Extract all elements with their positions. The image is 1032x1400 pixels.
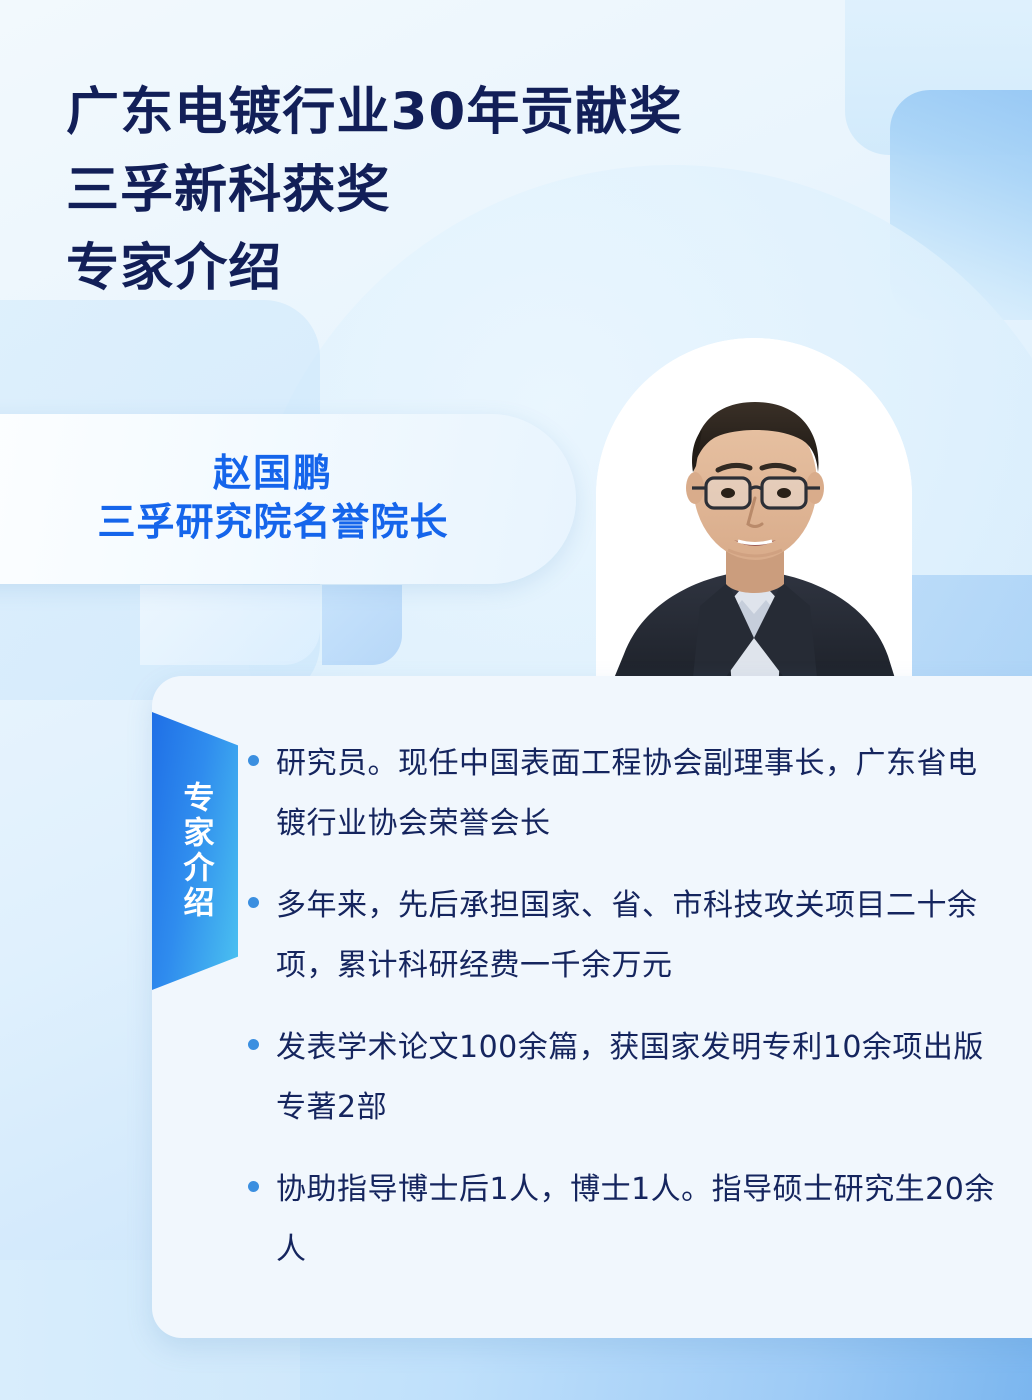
list-item-text: 发表学术论文100余篇，获国家发明专利10余项出版专著2部 bbox=[276, 1018, 996, 1138]
list-item-text: 研究员。现任中国表面工程协会副理事长，广东省电镀行业协会荣誉会长 bbox=[276, 734, 996, 854]
title-line-2: 三孚新科获奖 bbox=[66, 152, 940, 230]
expert-name: 赵国鹏 bbox=[213, 450, 333, 496]
avatar bbox=[596, 338, 912, 688]
title-line-3: 专家介绍 bbox=[66, 230, 940, 308]
bio-list: 研究员。现任中国表面工程协会副理事长，广东省电镀行业协会荣誉会长 多年来，先后承… bbox=[248, 734, 996, 1302]
poster-title: 广东电镀行业30年贡献奖 三孚新科获奖 专家介绍 bbox=[66, 74, 906, 308]
list-item: 多年来，先后承担国家、省、市科技攻关项目二十余项，累计科研经费一千余万元 bbox=[248, 876, 996, 996]
section-ribbon: 专家介绍 bbox=[152, 712, 238, 990]
list-item: 研究员。现任中国表面工程协会副理事长，广东省电镀行业协会荣誉会长 bbox=[248, 734, 996, 854]
decor-mid-light-rect bbox=[140, 585, 320, 665]
list-item: 发表学术论文100余篇，获国家发明专利10余项出版专著2部 bbox=[248, 1018, 996, 1138]
bullet-dot-icon bbox=[248, 1181, 259, 1192]
bullet-dot-icon bbox=[248, 1039, 259, 1050]
decor-mid-blue-rect bbox=[322, 585, 402, 665]
poster-root: 广东电镀行业30年贡献奖 三孚新科获奖 专家介绍 bbox=[0, 0, 1032, 1400]
expert-title: 三孚研究院名誉院长 bbox=[97, 496, 448, 548]
list-item-text: 协助指导博士后1人，博士1人。指导硕士研究生20余人 bbox=[276, 1160, 996, 1280]
name-card: 赵国鹏 三孚研究院名誉院长 bbox=[0, 414, 576, 584]
bullet-dot-icon bbox=[248, 897, 259, 908]
section-ribbon-label: 专家介绍 bbox=[180, 781, 211, 921]
portrait-illustration bbox=[596, 338, 912, 688]
bullet-dot-icon bbox=[248, 755, 259, 766]
list-item-text: 多年来，先后承担国家、省、市科技攻关项目二十余项，累计科研经费一千余万元 bbox=[276, 876, 996, 996]
list-item: 协助指导博士后1人，博士1人。指导硕士研究生20余人 bbox=[248, 1160, 996, 1280]
title-line-1: 广东电镀行业30年贡献奖 bbox=[66, 74, 940, 152]
